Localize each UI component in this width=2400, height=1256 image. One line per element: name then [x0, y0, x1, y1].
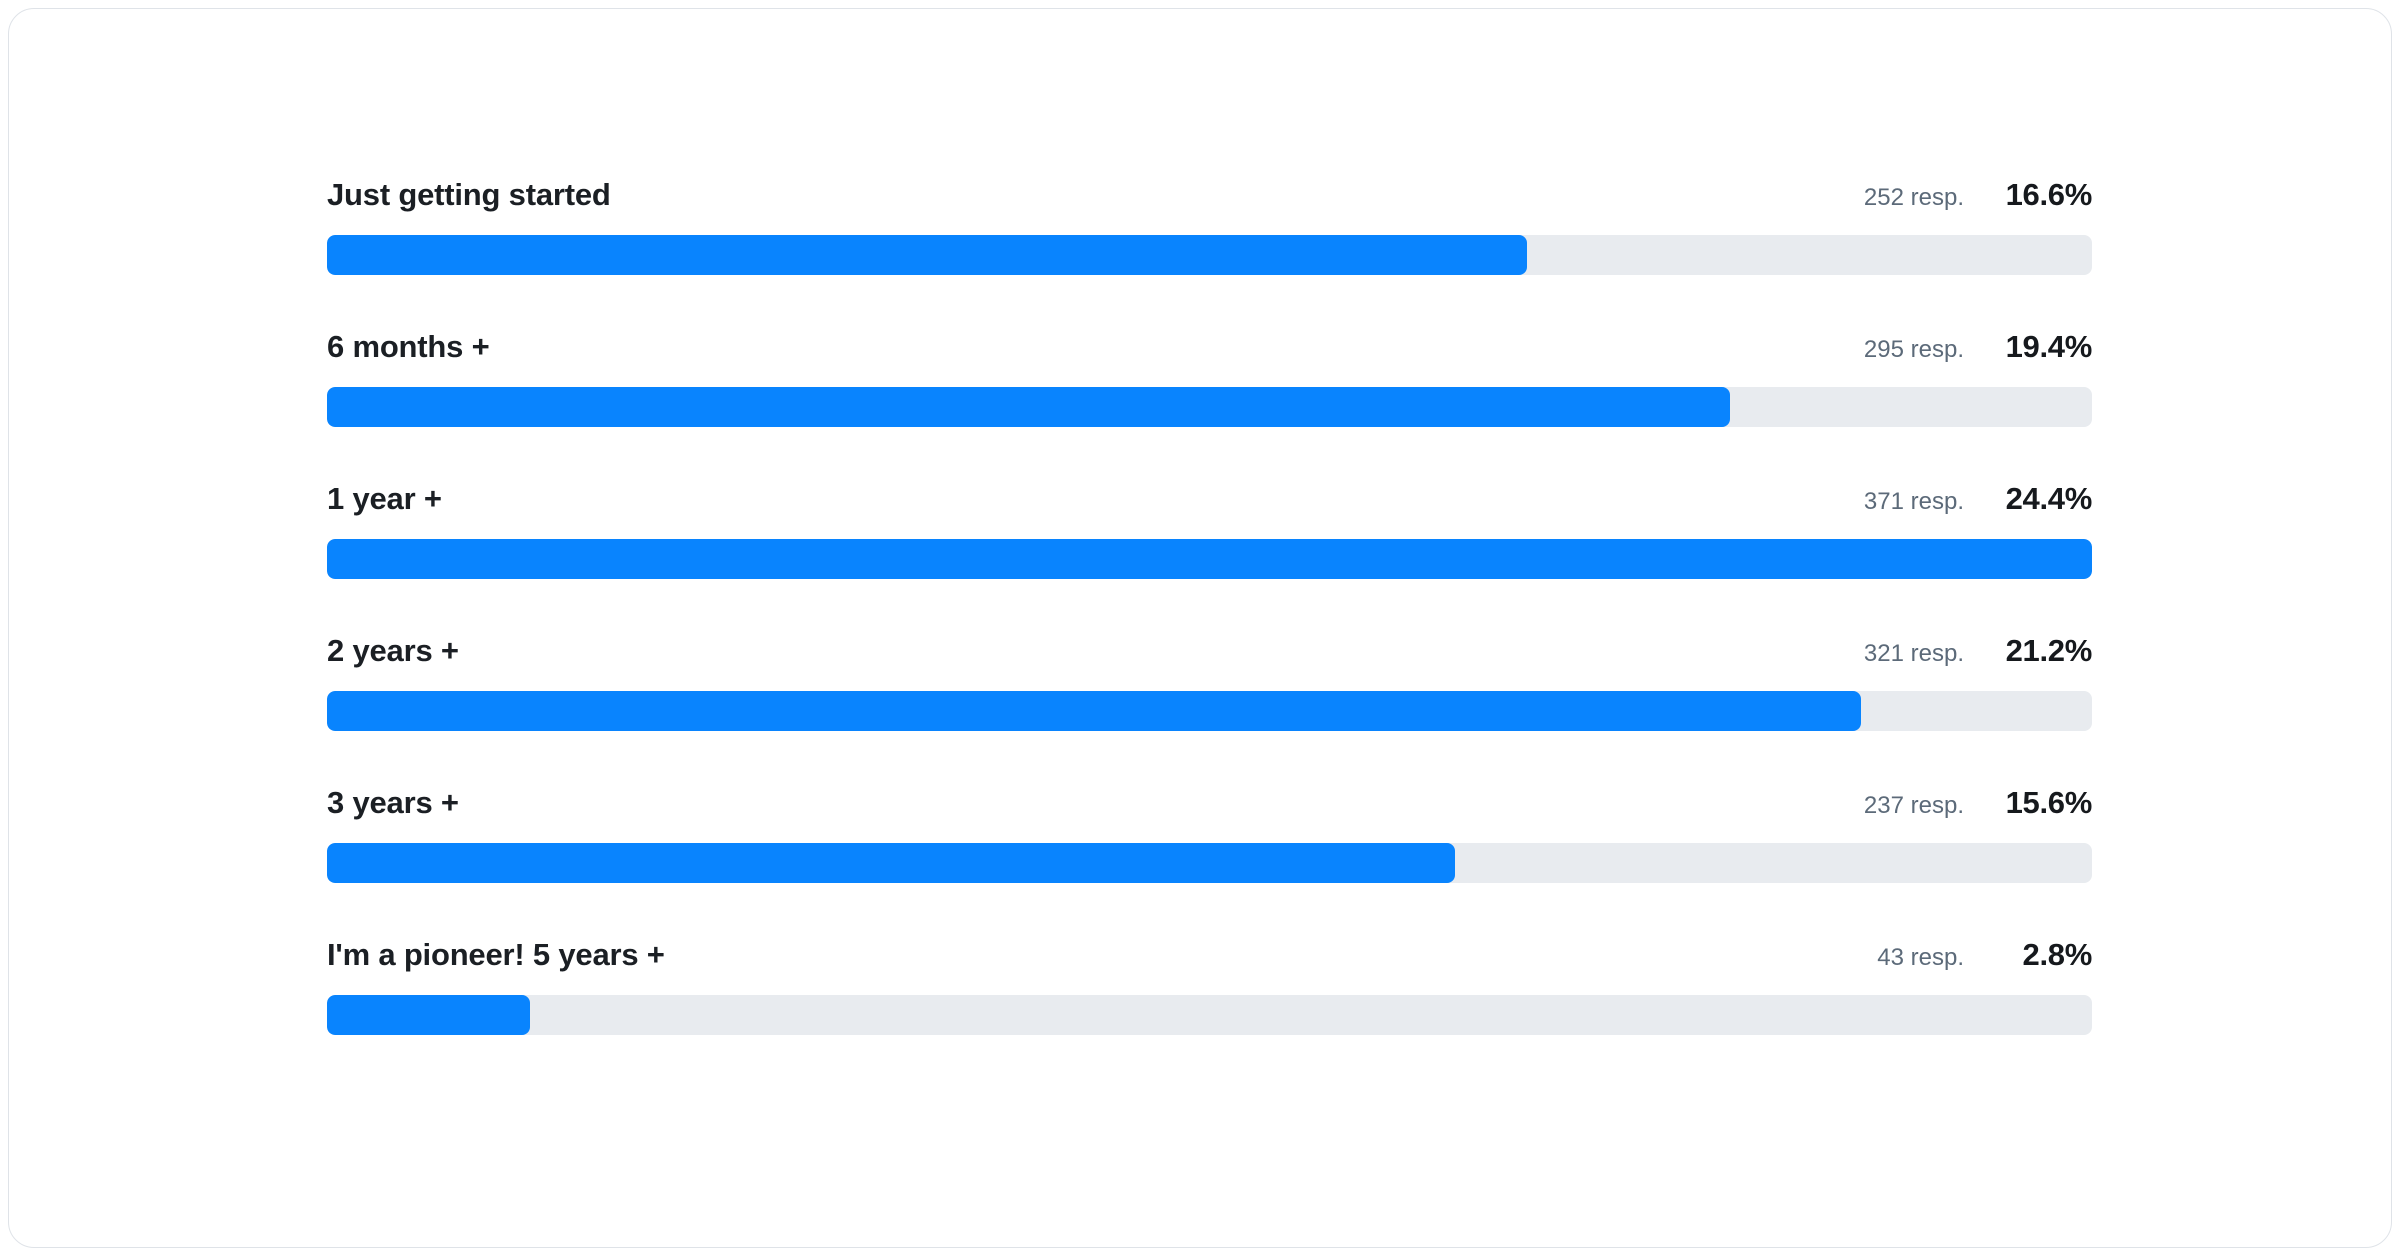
- bar-row: 1 year + 371 resp. 24.4%: [327, 481, 2092, 579]
- bar-fill: [327, 387, 1730, 427]
- bar-row-values: 43 resp. 2.8%: [1877, 937, 2092, 973]
- bar-row-response-count: 321 resp.: [1864, 640, 1964, 668]
- bar-row-percent: 16.6%: [1988, 177, 2092, 213]
- bar-row-label: I'm a pioneer! 5 years +: [327, 937, 665, 973]
- bar-row-percent: 19.4%: [1988, 329, 2092, 365]
- bar-fill: [327, 843, 1455, 883]
- bar-row-values: 321 resp. 21.2%: [1864, 633, 2092, 669]
- bar-row: Just getting started 252 resp. 16.6%: [327, 177, 2092, 275]
- bar-row-header: 6 months + 295 resp. 19.4%: [327, 329, 2092, 367]
- bar-fill: [327, 235, 1527, 275]
- results-card: Just getting started 252 resp. 16.6% 6 m…: [8, 8, 2392, 1248]
- bar-track: [327, 691, 2092, 731]
- bar-row-label: Just getting started: [327, 177, 611, 213]
- bar-track: [327, 387, 2092, 427]
- bar-fill: [327, 691, 1861, 731]
- bar-row-response-count: 371 resp.: [1864, 488, 1964, 516]
- bar-track: [327, 539, 2092, 579]
- bar-row-header: 1 year + 371 resp. 24.4%: [327, 481, 2092, 519]
- bar-row-values: 237 resp. 15.6%: [1864, 785, 2092, 821]
- bar-row-label: 3 years +: [327, 785, 459, 821]
- bar-row-percent: 15.6%: [1988, 785, 2092, 821]
- bar-track: [327, 235, 2092, 275]
- bar-row-values: 371 resp. 24.4%: [1864, 481, 2092, 517]
- bar-row: 2 years + 321 resp. 21.2%: [327, 633, 2092, 731]
- bar-row-values: 252 resp. 16.6%: [1864, 177, 2092, 213]
- bar-row: 6 months + 295 resp. 19.4%: [327, 329, 2092, 427]
- bar-fill: [327, 539, 2092, 579]
- bar-row-values: 295 resp. 19.4%: [1864, 329, 2092, 365]
- bar-row-response-count: 252 resp.: [1864, 184, 1964, 212]
- bar-row-label: 2 years +: [327, 633, 459, 669]
- bar-track: [327, 995, 2092, 1035]
- bar-row-label: 6 months +: [327, 329, 490, 365]
- bar-fill: [327, 995, 530, 1035]
- bar-row-percent: 24.4%: [1988, 481, 2092, 517]
- bar-row-header: Just getting started 252 resp. 16.6%: [327, 177, 2092, 215]
- bar-row-header: I'm a pioneer! 5 years + 43 resp. 2.8%: [327, 937, 2092, 975]
- bar-row-header: 3 years + 237 resp. 15.6%: [327, 785, 2092, 823]
- bar-row: I'm a pioneer! 5 years + 43 resp. 2.8%: [327, 937, 2092, 1035]
- bar-track: [327, 843, 2092, 883]
- bar-row-percent: 21.2%: [1988, 633, 2092, 669]
- bar-chart: Just getting started 252 resp. 16.6% 6 m…: [327, 177, 2092, 1035]
- bar-row-response-count: 237 resp.: [1864, 792, 1964, 820]
- bar-row-header: 2 years + 321 resp. 21.2%: [327, 633, 2092, 671]
- bar-row-response-count: 43 resp.: [1877, 944, 1964, 972]
- bar-row-label: 1 year +: [327, 481, 442, 517]
- bar-row-percent: 2.8%: [1988, 937, 2092, 973]
- bar-row: 3 years + 237 resp. 15.6%: [327, 785, 2092, 883]
- bar-row-response-count: 295 resp.: [1864, 336, 1964, 364]
